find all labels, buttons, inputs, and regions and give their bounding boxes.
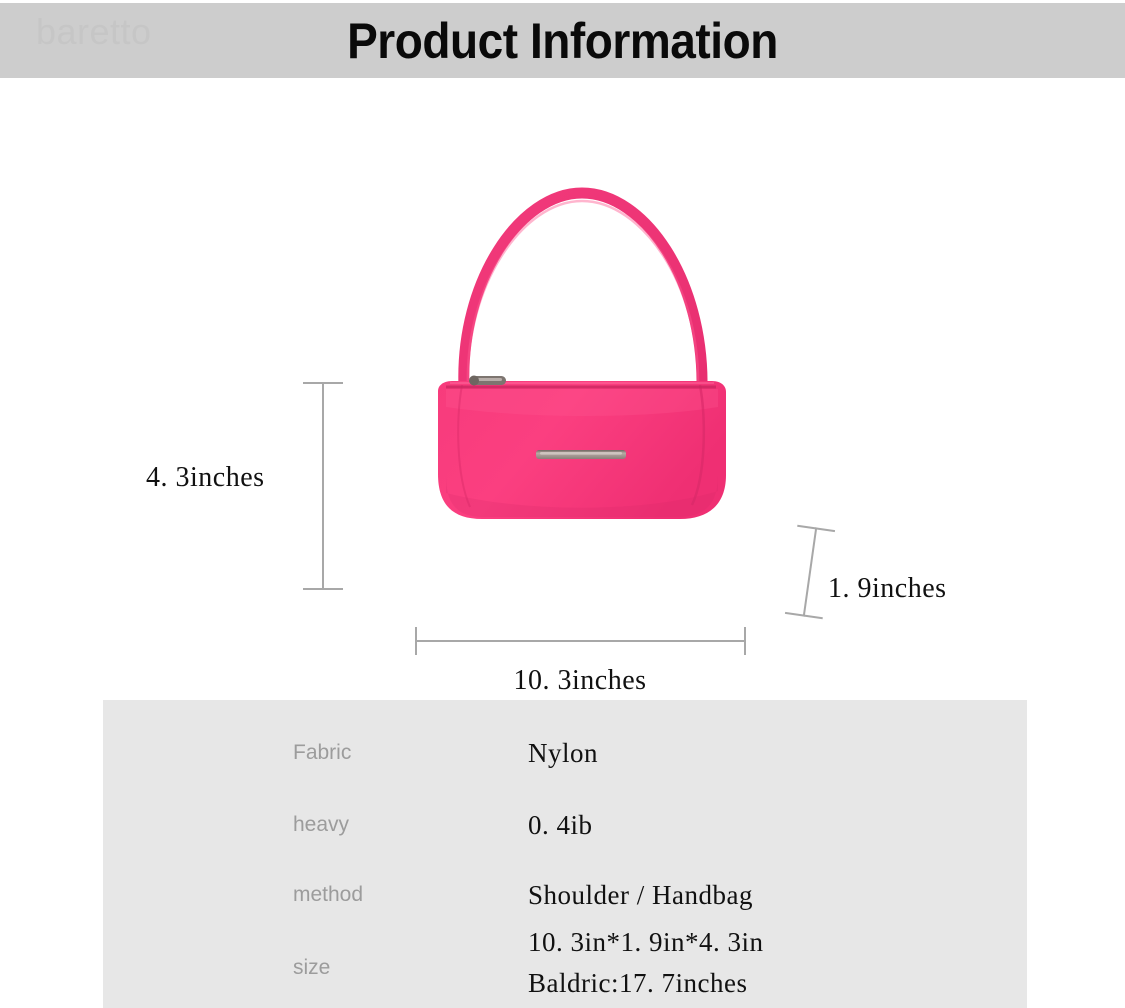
width-dimension-label: 10. 3inches — [415, 665, 745, 697]
spec-value-line: Baldric:17. 7inches — [528, 968, 764, 999]
page-title: Product Information — [45, 3, 1080, 78]
zipper-pull-icon — [469, 376, 506, 386]
specification-table: Fabric Nylon heavy 0. 4ib method Shoulde… — [103, 700, 1027, 1008]
height-dimension-cap-bottom — [303, 588, 343, 590]
spec-value-line: Nylon — [528, 738, 598, 769]
spec-label-fabric: Fabric — [293, 741, 351, 765]
table-row: heavy 0. 4ib — [103, 794, 1027, 856]
width-dimension-cap-right — [744, 627, 746, 655]
spec-value-heavy: 0. 4ib — [528, 810, 593, 841]
spec-label-method: method — [293, 883, 363, 907]
spec-value-line: Shoulder / Handbag — [528, 880, 753, 911]
spec-label-size: size — [293, 956, 330, 980]
width-dimension-cap-left — [415, 627, 417, 655]
spec-label-heavy: heavy — [293, 813, 349, 837]
width-dimension-line — [415, 640, 745, 642]
spec-value-method: Shoulder / Handbag — [528, 880, 753, 911]
table-row: size 10. 3in*1. 9in*4. 3in Baldric:17. 7… — [103, 924, 1027, 1002]
spec-value-line: 0. 4ib — [528, 810, 593, 841]
depth-dimension-line — [803, 527, 818, 616]
spec-value-fabric: Nylon — [528, 738, 598, 769]
spec-value-line: 10. 3in*1. 9in*4. 3in — [528, 927, 764, 958]
depth-dimension-label: 1. 9inches — [828, 573, 947, 605]
header-band: baretto Product Information — [0, 3, 1125, 78]
height-dimension-label: 4. 3inches — [146, 462, 265, 494]
product-image-stage: 4. 3inches 10. 3inches 1. 9inches — [0, 95, 1125, 640]
handbag-image — [416, 175, 746, 525]
logo-hardware-plate — [536, 450, 626, 459]
height-dimension-line — [322, 382, 324, 590]
height-dimension-cap-top — [303, 382, 343, 384]
depth-dimension-line-group — [784, 525, 836, 620]
product-information-page: baretto Product Information — [0, 0, 1125, 1008]
table-row: method Shoulder / Handbag — [103, 864, 1027, 926]
spec-value-size: 10. 3in*1. 9in*4. 3in Baldric:17. 7inche… — [528, 927, 764, 999]
table-row: Fabric Nylon — [103, 722, 1027, 784]
